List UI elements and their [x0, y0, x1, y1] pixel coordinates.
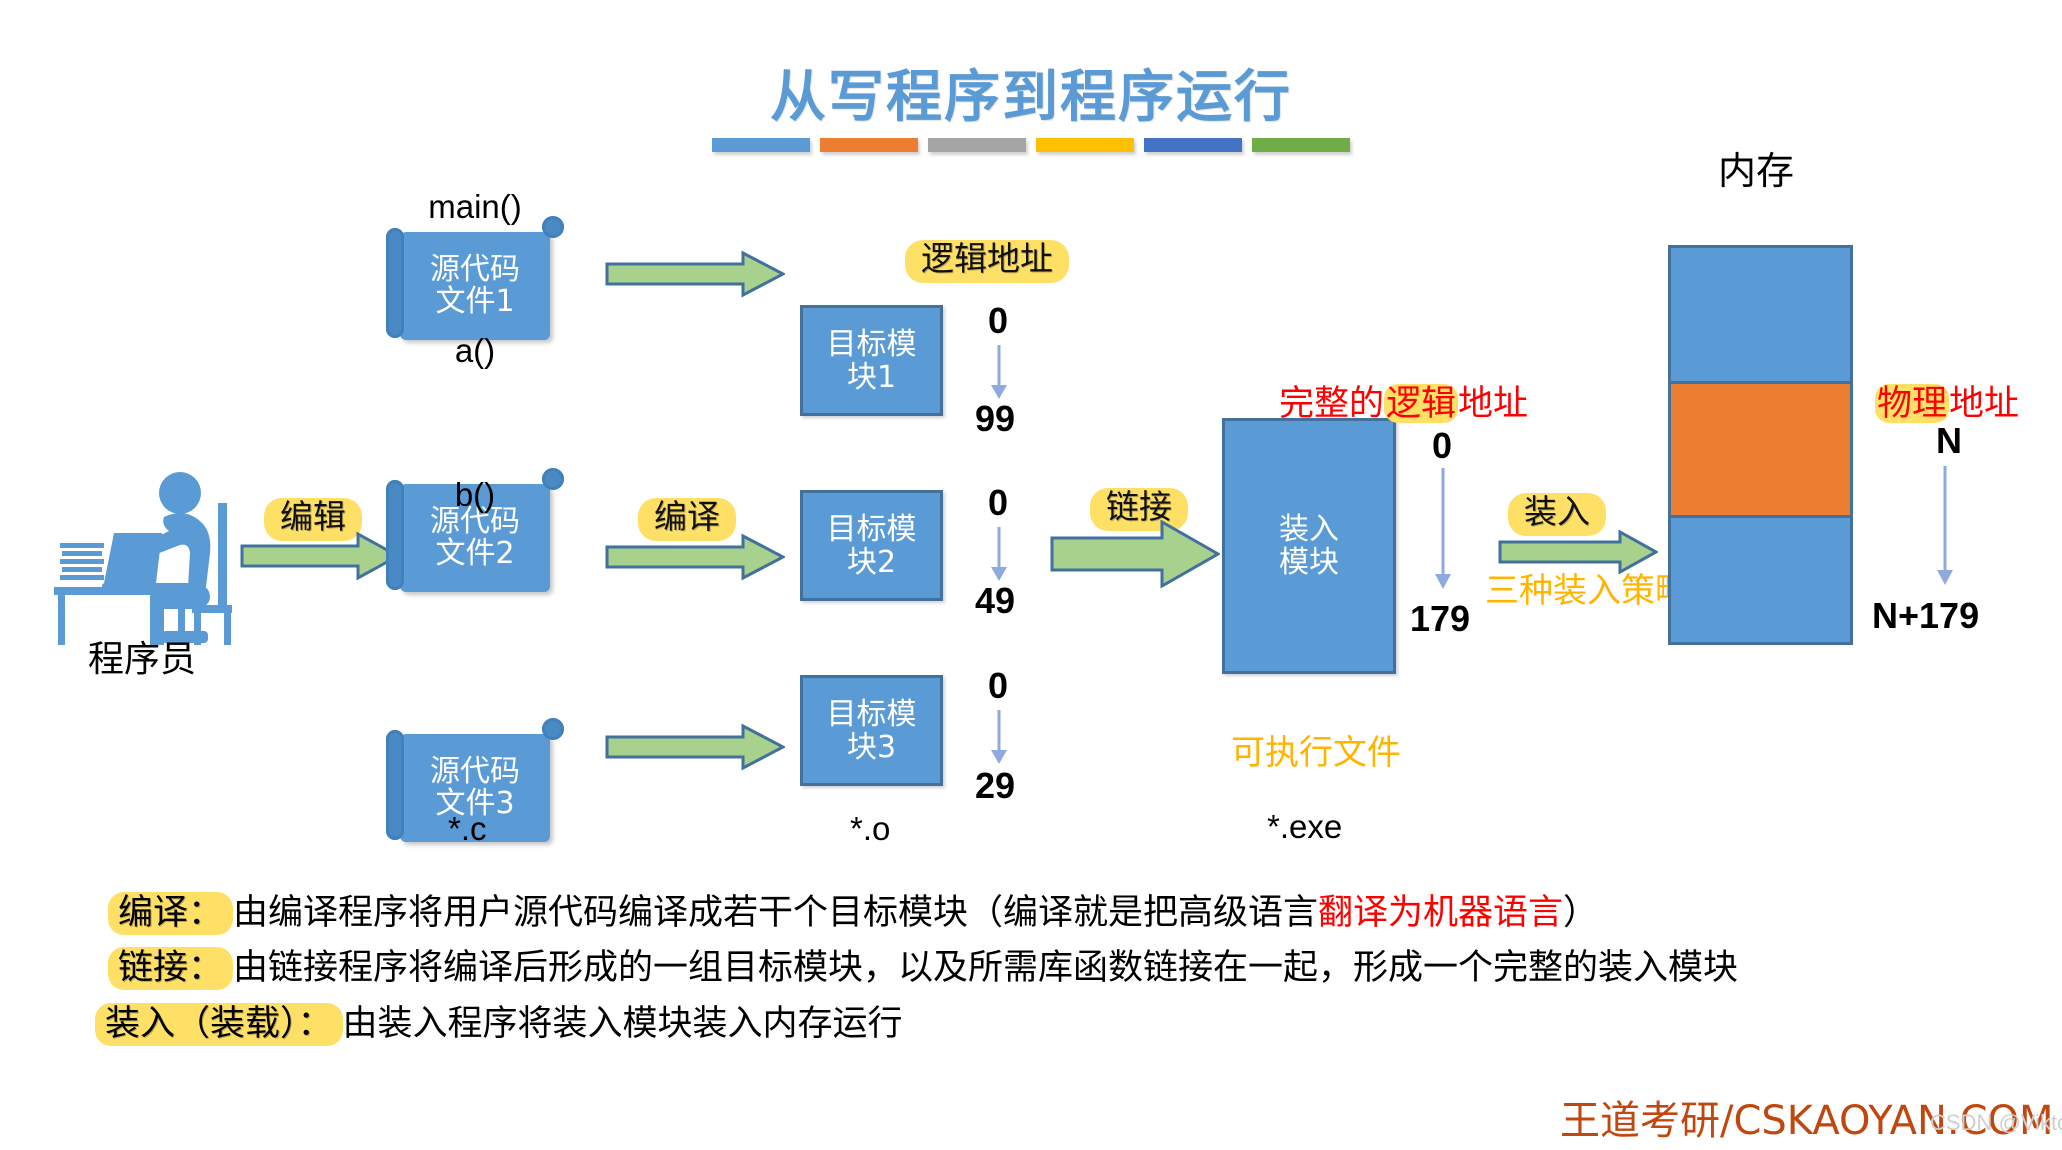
full-logical-address-label: 完整的逻辑地址 [1279, 375, 1528, 426]
full-logical-highlight: 逻辑 [1384, 384, 1458, 423]
object-module-2-line1: 目标模 [827, 513, 917, 546]
edit-arrow-icon [240, 530, 400, 587]
full-logical-prefix: 完整的 [1279, 384, 1384, 423]
source-file-3-line1: 源代码 [400, 756, 550, 788]
accent-bar-3 [928, 138, 1026, 152]
object-module-2-addr-end: 49 [975, 580, 1015, 622]
source-file-func-1: main() [395, 188, 555, 226]
memory-free-top [1671, 248, 1850, 381]
page-title: 从写程序到程序运行 [0, 52, 2062, 133]
physical-address-suffix: 地址 [1949, 384, 2019, 423]
object-module-1-addr-start: 0 [988, 300, 1008, 342]
csdn-watermark: CSDN @Viktoriae [1930, 1110, 2062, 1136]
object-module-3-addr-end: 29 [975, 765, 1015, 807]
note-load-body: 由装入程序将装入模块装入内存运行 [343, 1004, 903, 1043]
accent-bar-1 [712, 138, 810, 152]
executable-ext-label: *.exe [1267, 808, 1342, 846]
compile-arrow-2-icon [605, 533, 785, 586]
object-module-1-line2: 块1 [827, 361, 917, 394]
source-file-func-2: a() [395, 332, 555, 370]
load-module-addr-arrow-icon [1428, 468, 1458, 595]
accent-bar-6 [1252, 138, 1350, 152]
object-module-3-addr-arrow-icon [984, 710, 1014, 770]
load-module-addr-start: 0 [1432, 425, 1452, 467]
object-ext-label: *.o [850, 810, 890, 848]
source-ext-label: *.c [448, 810, 487, 848]
logical-address-label: 逻辑地址 [905, 232, 1069, 280]
object-module-1-line1: 目标模 [827, 328, 917, 361]
object-module-1-addr-arrow-icon [984, 345, 1014, 405]
note-compile-red: 翻译为机器语言 [1318, 893, 1563, 932]
accent-bar-5 [1144, 138, 1242, 152]
memory-title: 内存 [1718, 140, 1794, 195]
load-module-addr-end: 179 [1410, 598, 1470, 640]
full-logical-suffix: 地址 [1458, 384, 1528, 423]
programmer-at-desk-icon [52, 455, 262, 645]
accent-bar-4 [1036, 138, 1134, 152]
note-compile-key: 编译： [108, 892, 233, 935]
programmer-label: 程序员 [88, 630, 196, 682]
object-module-3-addr-start: 0 [988, 665, 1008, 707]
memory-used-block [1671, 381, 1850, 518]
physical-address-label: 物理地址 [1875, 375, 2019, 426]
physical-address-highlight: 物理 [1875, 384, 1949, 423]
memory-column [1668, 245, 1853, 645]
object-module-1: 目标模 块1 [800, 305, 943, 416]
source-file-1-line1: 源代码 [400, 254, 550, 286]
memory-addr-end: N+179 [1872, 595, 1979, 637]
link-arrow-icon [1050, 520, 1220, 593]
note-link-key: 链接： [108, 947, 233, 990]
note-link: 链接：由链接程序将编译后形成的一组目标模块，以及所需库函数链接在一起，形成一个完… [108, 939, 1738, 990]
load-step-label: 装入 [1508, 485, 1606, 533]
object-module-3-line2: 块3 [827, 731, 917, 764]
object-module-2-line2: 块2 [827, 546, 917, 579]
memory-addr-start: N [1936, 420, 1962, 462]
source-file-func-3: b() [395, 476, 555, 514]
memory-free-bottom [1671, 518, 1850, 642]
source-file-1: 源代码 文件1 [400, 232, 550, 340]
compile-arrow-1-icon [605, 250, 785, 303]
load-module-line2: 模块 [1279, 546, 1339, 579]
source-file-2-line2: 文件2 [400, 538, 550, 570]
load-module-line1: 装入 [1279, 513, 1339, 546]
executable-file-label: 可执行文件 [1231, 725, 1401, 774]
object-module-2-addr-arrow-icon [984, 527, 1014, 587]
compile-arrow-3-icon [605, 723, 785, 776]
accent-bar-2 [820, 138, 918, 152]
source-file-1-line2: 文件1 [400, 286, 550, 318]
object-module-3: 目标模 块3 [800, 675, 943, 786]
note-compile: 编译：由编译程序将用户源代码编译成若干个目标模块（编译就是把高级语言翻译为机器语… [108, 884, 1598, 935]
note-load-key: 装入（装载）： [95, 1003, 343, 1046]
object-module-1-addr-end: 99 [975, 398, 1015, 440]
compile-step-label: 编译 [638, 490, 736, 538]
object-module-2: 目标模 块2 [800, 490, 943, 601]
memory-addr-arrow-icon [1930, 466, 1960, 591]
note-link-body: 由链接程序将编译后形成的一组目标模块，以及所需库函数链接在一起，形成一个完整的装… [233, 948, 1738, 987]
object-module-2-addr-start: 0 [988, 482, 1008, 524]
load-strategies-label: 三种装入策略 [1485, 563, 1689, 612]
note-compile-body: 由编译程序将用户源代码编译成若干个目标模块（编译就是把高级语言 [233, 893, 1318, 932]
logical-address-text: 逻辑地址 [905, 240, 1069, 283]
load-module-box: 装入 模块 [1222, 418, 1396, 674]
object-module-3-line1: 目标模 [827, 698, 917, 731]
note-compile-tail: ） [1563, 893, 1598, 932]
note-load: 装入（装载）：由装入程序将装入模块装入内存运行 [95, 995, 903, 1046]
